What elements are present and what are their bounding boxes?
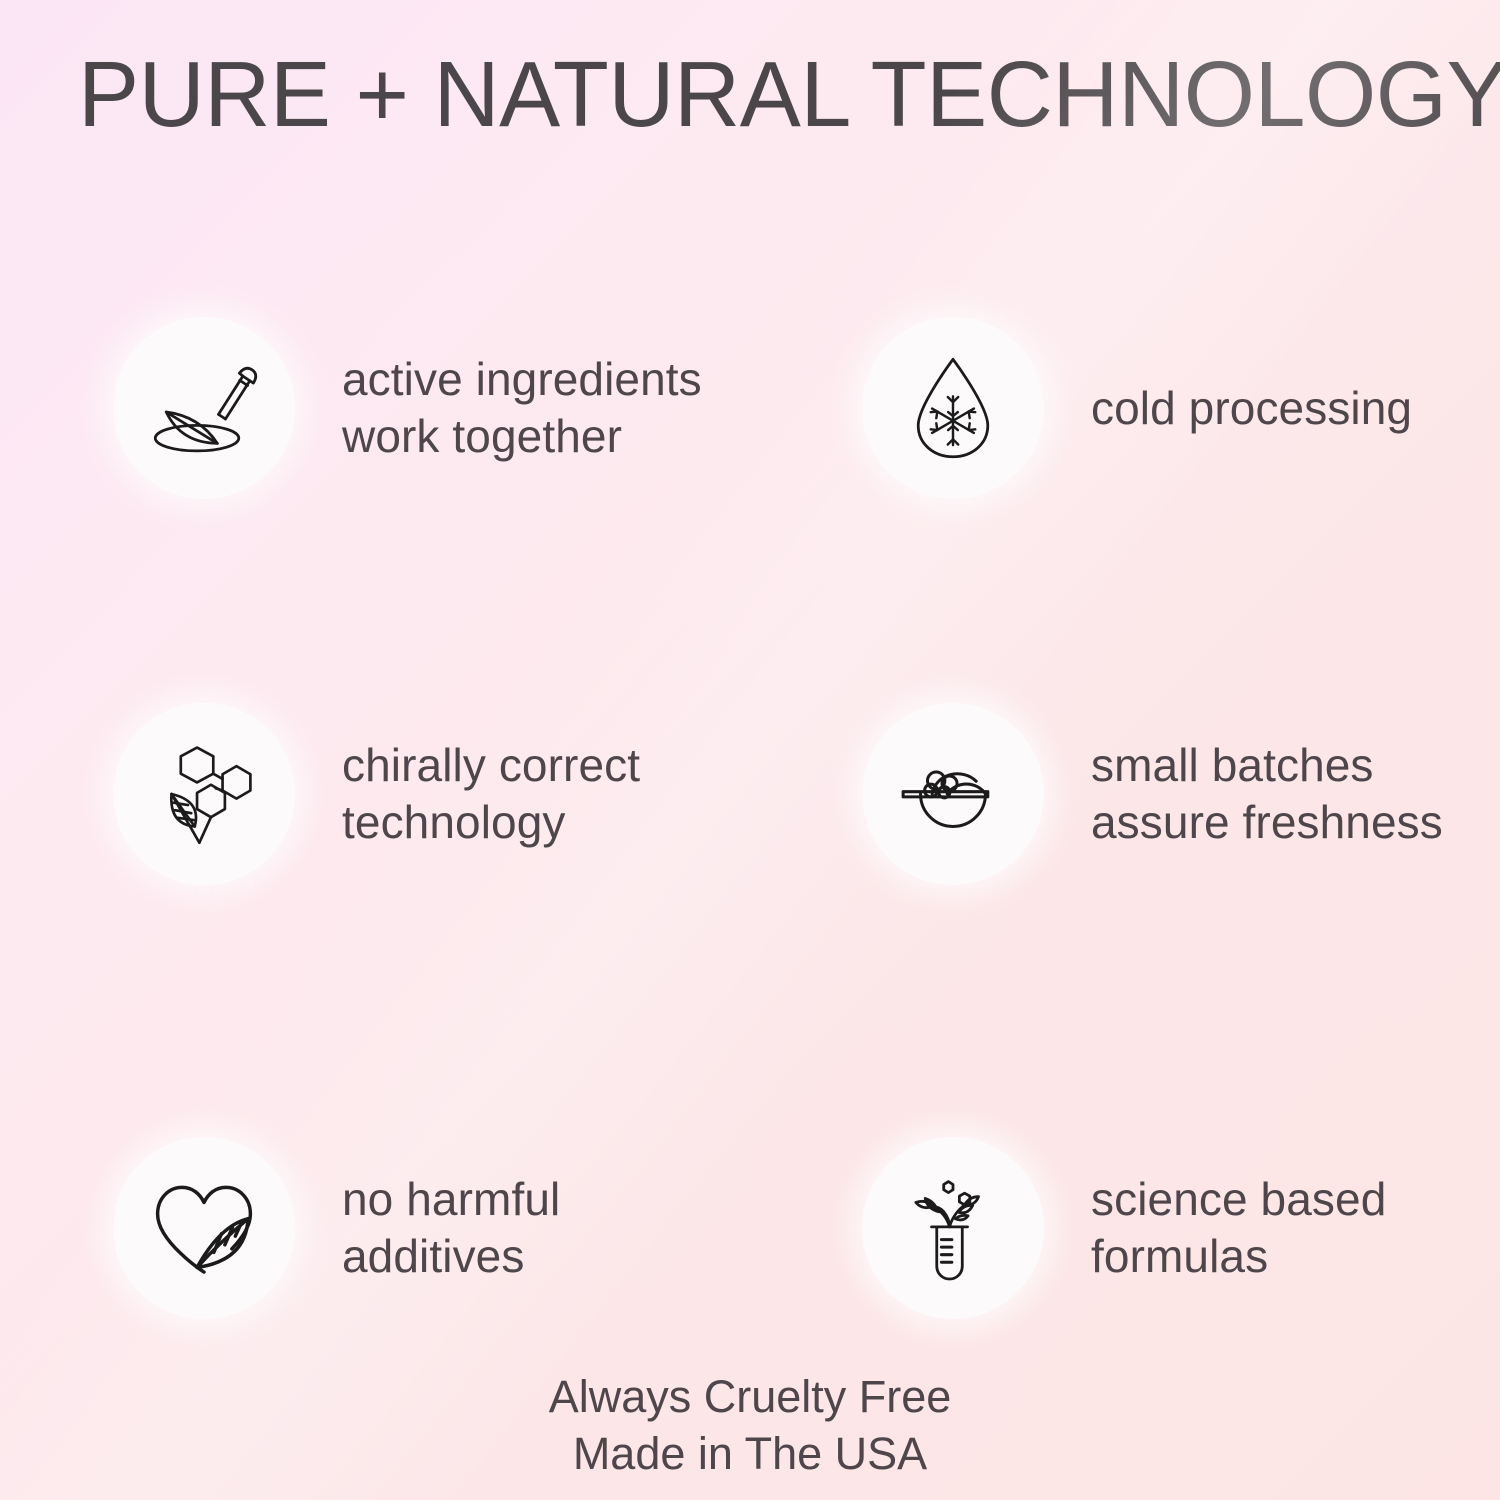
feature-label: science based formulas [1091, 1171, 1386, 1285]
icon-circle [862, 1137, 1044, 1319]
feature-active-ingredients: active ingredients work together [113, 317, 702, 499]
feature-label: cold processing [1091, 380, 1412, 437]
feature-chirally-correct: chirally correct technology [113, 703, 640, 885]
feature-label: small batches assure freshness [1091, 737, 1443, 851]
dropper-leaf-dish-icon [146, 350, 262, 466]
feature-label: no harmful additives [342, 1171, 560, 1285]
icon-circle [862, 703, 1044, 885]
heart-leaf-icon [146, 1170, 262, 1286]
feature-label: active ingredients work together [342, 351, 702, 465]
icon-circle [113, 1137, 295, 1319]
feature-small-batches: small batches assure freshness [862, 703, 1443, 885]
feature-grid: active ingredients work together [0, 0, 1500, 1500]
feature-science-based-formulas: science based formulas [862, 1137, 1386, 1319]
infographic-panel: PURE + NATURAL TECHNOLOGY [0, 0, 1500, 1500]
icon-circle [113, 317, 295, 499]
icon-circle [862, 317, 1044, 499]
feature-no-harmful-additives: no harmful additives [113, 1137, 560, 1319]
mixing-bowl-icon [895, 736, 1011, 852]
footer-note: Always Cruelty Free Made in The USA [0, 1368, 1500, 1482]
test-tube-sprout-icon [895, 1170, 1011, 1286]
feature-cold-processing: cold processing [862, 317, 1412, 499]
droplet-snowflake-icon [895, 350, 1011, 466]
feature-label: chirally correct technology [342, 737, 640, 851]
hexagon-molecule-leaf-icon [146, 736, 262, 852]
icon-circle [113, 703, 295, 885]
